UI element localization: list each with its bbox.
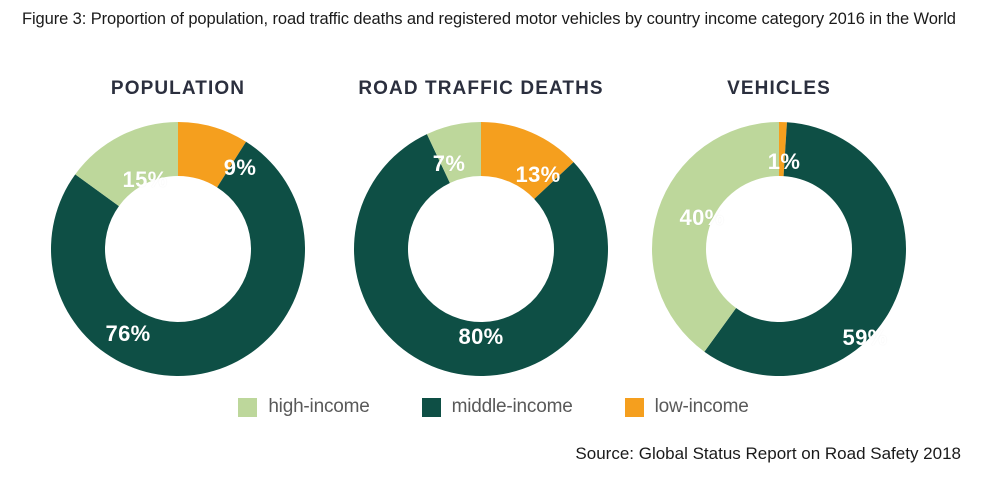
legend-label-middle-income: middle-income — [452, 396, 573, 418]
donut-value-population-low-income: 9% — [224, 155, 256, 181]
donut-value-vehicles-high-income: 40% — [680, 205, 725, 231]
donut-value-deaths-high-income: 7% — [433, 151, 465, 177]
donut-labels-population: 9% 76% 15% — [45, 122, 311, 376]
donut-value-vehicles-low-income: 1% — [768, 149, 800, 175]
donut-value-deaths-low-income: 13% — [516, 162, 561, 188]
donut-value-population-middle-income: 76% — [106, 321, 151, 347]
chart-legend: high-income middle-income low-income — [0, 396, 987, 418]
figure-caption: Figure 3: Proportion of population, road… — [22, 6, 962, 32]
legend-item-high-income[interactable]: high-income — [238, 396, 369, 418]
donut-title-road-traffic-deaths: ROAD TRAFFIC DEATHS — [348, 78, 614, 100]
legend-item-middle-income[interactable]: middle-income — [422, 396, 573, 418]
donut-value-vehicles-middle-income: 59% — [843, 325, 888, 351]
source-note: Source: Global Status Report on Road Saf… — [575, 444, 961, 464]
legend-swatch-middle-income-icon — [422, 398, 441, 417]
legend-swatch-high-income-icon — [238, 398, 257, 417]
donut-labels-road-traffic-deaths: 13% 80% 7% — [348, 122, 614, 376]
legend-item-low-income[interactable]: low-income — [625, 396, 749, 418]
donut-title-vehicles: VEHICLES — [646, 78, 912, 100]
legend-label-high-income: high-income — [268, 396, 369, 418]
donut-value-population-high-income: 15% — [123, 167, 168, 193]
donut-title-population: POPULATION — [45, 78, 311, 100]
legend-label-low-income: low-income — [655, 396, 749, 418]
legend-swatch-low-income-icon — [625, 398, 644, 417]
donut-labels-vehicles: 1% 59% 40% — [646, 122, 912, 376]
donut-value-deaths-middle-income: 80% — [459, 324, 504, 350]
